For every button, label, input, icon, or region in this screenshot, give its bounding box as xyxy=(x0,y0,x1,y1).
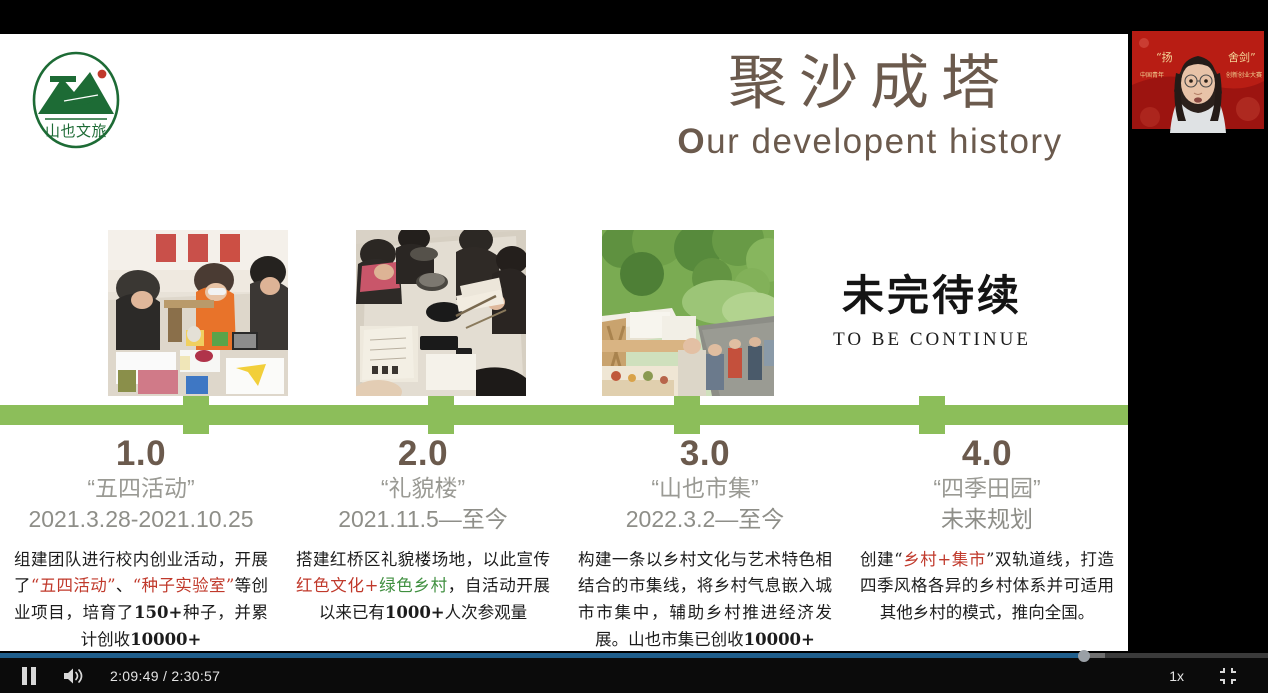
timeline-column-3: 3.0 “山也市集” 2022.3.2—至今 构建一条以乡村文化与艺术特色相结合… xyxy=(564,436,846,651)
column-date: 2021.11.5—至今 xyxy=(296,505,550,535)
body-segment: 150+ xyxy=(134,603,182,622)
body-segment: 红色文化 xyxy=(296,576,365,595)
timeline-marker-2 xyxy=(428,396,454,434)
to-be-continued-en: TO BE CONTINUE xyxy=(812,329,1052,351)
body-segment: “种子实验室” xyxy=(133,576,235,595)
volume-button[interactable] xyxy=(52,658,96,693)
body-segment: 10000+ xyxy=(744,630,815,649)
column-body: 创建“乡村+集市”双轨道线，打造四季风格各异的乡村体系并可适用其他乡村的模式，推… xyxy=(860,547,1114,627)
slide-title-block: 聚沙成塔 Our developent history xyxy=(630,48,1110,162)
svg-text:“扬: “扬 xyxy=(1156,50,1173,64)
timeline-column-1: 1.0 “五四活动” 2021.3.28-2021.10.25 组建团队进行校内… xyxy=(0,436,282,651)
slide-title-en-lead: O xyxy=(677,122,706,161)
slide-title-cn: 聚沙成塔 xyxy=(630,48,1110,118)
column-name: “四季田园” xyxy=(860,474,1114,504)
body-segment: 1000+ xyxy=(385,603,445,622)
exit-fullscreen-icon xyxy=(1219,667,1237,685)
photo-calligraphy-session xyxy=(356,230,526,396)
mountain-leaf-logo-icon: 山也文旅 xyxy=(28,48,124,152)
photo-outdoor-market-image xyxy=(602,230,774,396)
svg-text:舍剑”: 舍剑” xyxy=(1228,50,1256,64)
controls-row: 2:09:49 / 2:30:57 1x xyxy=(0,658,1268,693)
volume-icon xyxy=(63,667,85,685)
column-date: 2022.3.2—至今 xyxy=(578,505,832,535)
column-version: 3.0 xyxy=(578,436,832,473)
svg-text:山也文旅: 山也文旅 xyxy=(45,122,107,140)
timeline-column-4: 4.0 “四季田园” 未来规划 创建“乡村+集市”双轨道线，打造四季风格各异的乡… xyxy=(846,436,1128,651)
timeline-bar xyxy=(0,405,1128,425)
column-name: “山也市集” xyxy=(578,474,832,504)
photo-outdoor-market xyxy=(602,230,774,396)
body-segment: 绿色乡村 xyxy=(378,576,447,595)
slide-title-en: Our developent history xyxy=(630,122,1110,162)
column-body: 组建团队进行校内创业活动，开展了“五四活动”、“种子实验室”等创业项目，培育了1… xyxy=(14,547,268,651)
timeline-marker-1 xyxy=(183,396,209,434)
photo-calligraphy-session-image xyxy=(356,230,526,396)
body-segment: 10000+ xyxy=(130,630,201,649)
to-be-continued-cn: 未完待续 xyxy=(812,262,1052,323)
timeline-column-2: 2.0 “礼貌楼” 2021.11.5—至今 搭建红桥区礼貌楼场地，以此宣传红色… xyxy=(282,436,564,651)
timeline-marker-3 xyxy=(674,396,700,434)
column-date: 2021.3.28-2021.10.25 xyxy=(14,505,268,535)
photo-workshop-papercraft-image xyxy=(108,230,288,396)
body-segment: “五四活动” xyxy=(31,576,116,595)
body-segment: 创建“ xyxy=(860,550,903,569)
body-segment: 搭建红桥区礼貌楼场地，以此宣传 xyxy=(296,550,550,569)
timeline-columns: 1.0 “五四活动” 2021.3.28-2021.10.25 组建团队进行校内… xyxy=(0,436,1128,651)
presentation-slide: 山也文旅 聚沙成塔 Our developent history xyxy=(0,34,1128,651)
column-version: 2.0 xyxy=(296,436,550,473)
timeline-marker-4 xyxy=(919,396,945,434)
playback-speed-button[interactable]: 1x xyxy=(1151,658,1202,693)
column-name: “礼貌楼” xyxy=(296,474,550,504)
body-segment: + xyxy=(365,576,379,595)
slide-title-en-rest: ur developent history xyxy=(706,122,1062,161)
to-be-continued-block: 未完待续 TO BE CONTINUE xyxy=(812,262,1052,351)
pause-icon xyxy=(21,667,37,685)
svg-text:中国青年: 中国青年 xyxy=(1140,71,1164,79)
time-display: 2:09:49 / 2:30:57 xyxy=(110,668,220,684)
brand-logo: 山也文旅 xyxy=(28,48,124,152)
column-date: 未来规划 xyxy=(860,505,1114,535)
presenter-webcam[interactable]: “扬 舍剑” 中国青年 创新创业大赛 xyxy=(1128,25,1268,141)
column-version: 4.0 xyxy=(860,436,1114,473)
body-segment: 、 xyxy=(116,576,133,595)
column-version: 1.0 xyxy=(14,436,268,473)
column-body: 搭建红桥区礼貌楼场地，以此宣传红色文化+绿色乡村，自活动开展以来已有1000+人… xyxy=(296,547,550,627)
photo-workshop-papercraft xyxy=(108,230,288,396)
column-name: “五四活动” xyxy=(14,474,268,504)
video-player-controls[interactable]: 2:09:49 / 2:30:57 1x xyxy=(0,653,1268,693)
body-segment: 乡村+集市 xyxy=(903,550,986,569)
video-stage[interactable]: 山也文旅 聚沙成塔 Our developent history xyxy=(0,0,1268,693)
column-body: 构建一条以乡村文化与艺术特色相结合的市集线，将乡村气息嵌入城市市集中，辅助乡村推… xyxy=(578,547,832,651)
body-segment: 人次参观量 xyxy=(445,603,528,622)
svg-text:创新创业大赛: 创新创业大赛 xyxy=(1226,71,1262,79)
exit-fullscreen-button[interactable] xyxy=(1202,658,1254,693)
presenter-webcam-image: “扬 舍剑” 中国青年 创新创业大赛 xyxy=(1128,25,1268,141)
pause-button[interactable] xyxy=(6,658,52,693)
